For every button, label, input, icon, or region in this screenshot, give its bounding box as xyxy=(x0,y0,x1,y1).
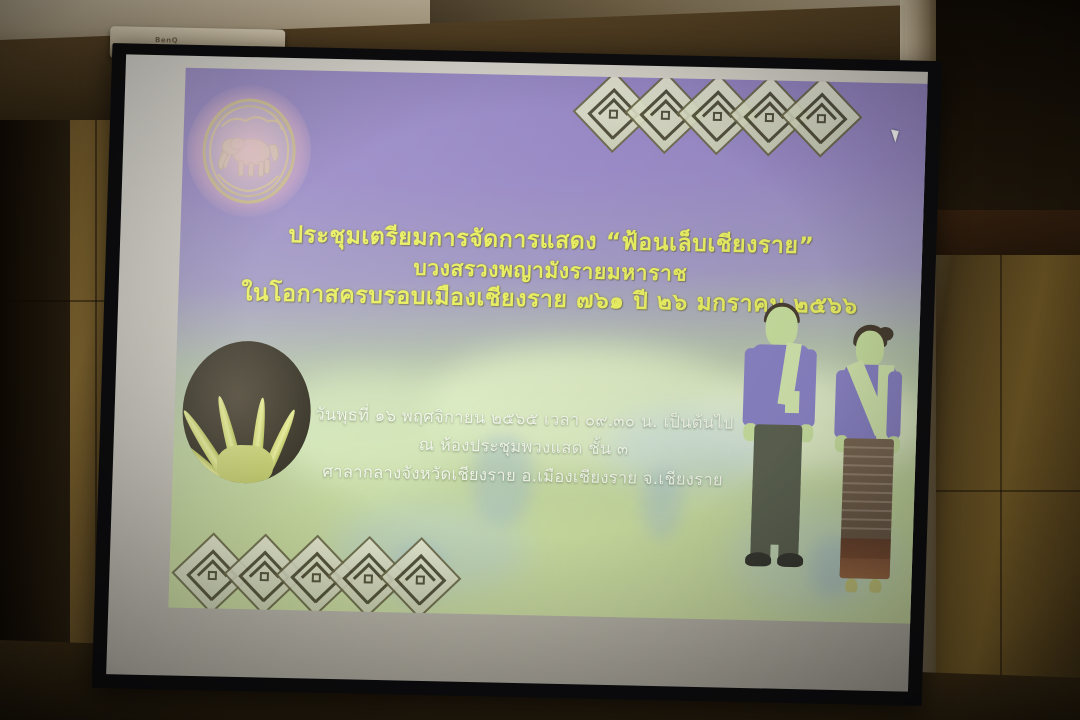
sinh-skirt xyxy=(840,438,895,579)
provincial-seal xyxy=(199,96,298,206)
wall-panel-seam xyxy=(1000,255,1002,720)
room-wall-right-band xyxy=(930,210,1080,255)
projection-screen-surface: ประชุมเตรียมการจัดการแสดง “ฟ้อนเล็บเชียง… xyxy=(106,54,928,691)
room-wall-left-shadow xyxy=(0,120,70,720)
costume-figures-illustration xyxy=(729,290,909,614)
room-wall-right-upper-dark xyxy=(930,0,1080,220)
slide-detail-block: วันพุธที่ ๑๖ พฤศจิกายน ๒๕๖๕ เวลา ๐๙.๓๐ น… xyxy=(242,399,805,496)
wall-panel-seam xyxy=(930,490,1080,492)
ornament-row-top xyxy=(584,82,846,146)
diamond-motif-icon xyxy=(780,76,862,158)
photo-scene: BenQ xyxy=(0,0,1080,720)
ornament-row-bottom xyxy=(183,544,445,608)
projection-screen-frame: ประชุมเตรียมการจัดการแสดง “ฟ้อนเล็บเชียง… xyxy=(92,43,943,706)
projected-slide: ประชุมเตรียมการจัดการแสดง “ฟ้อนเล็บเชียง… xyxy=(168,68,927,624)
